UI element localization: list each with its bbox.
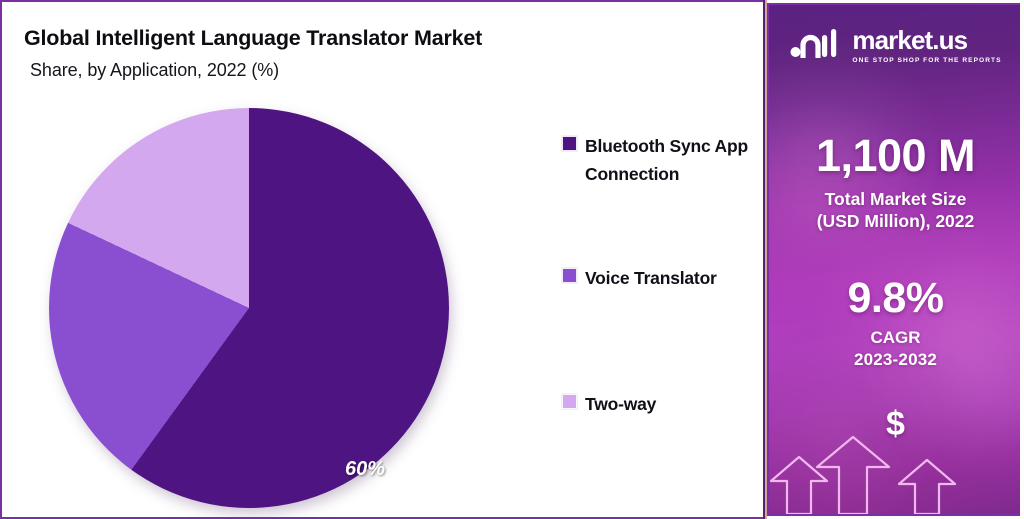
legend-label-2: Two-way (585, 390, 656, 418)
market-us-logo-icon (789, 28, 845, 63)
stat-value-market-size: 1,100 M (769, 133, 1020, 178)
legend-item-bluetooth-sync-app-connection[interactable]: Bluetooth Sync App Connection (562, 132, 760, 189)
brand-logo[interactable]: market.us ONE STOP SHOP FOR THE REPORTS (769, 27, 1020, 64)
infographic-root: Global Intelligent Language Translator M… (0, 0, 1024, 519)
legend-label-1: Voice Translator (585, 264, 717, 292)
brand-panel: market.us ONE STOP SHOP FOR THE REPORTS … (763, 0, 1024, 519)
logo-wordmark: market.us (852, 27, 1001, 53)
stat-cagr: 9.8% CAGR 2023-2032 (769, 277, 1020, 370)
stat-caption-line2: (USD Million), 2022 (769, 210, 1020, 232)
chart-panel: Global Intelligent Language Translator M… (0, 0, 763, 519)
stat-market-size: 1,100 M Total Market Size (USD Million),… (769, 133, 1020, 232)
page-title: Global Intelligent Language Translator M… (24, 26, 482, 51)
stat-caption-cagr: CAGR (769, 328, 1020, 348)
pie-slices (49, 108, 449, 508)
stat-caption-line1: Total Market Size (769, 188, 1020, 210)
pie-chart: 60% (49, 108, 455, 514)
stat-caption-market-size: Total Market Size (USD Million), 2022 (769, 188, 1020, 232)
legend-swatch-icon-0 (562, 136, 577, 151)
arrow-center (817, 437, 889, 514)
legend-item-voice-translator[interactable]: Voice Translator (562, 264, 717, 292)
pie-slice-label-0: 60% (345, 458, 385, 481)
stat-value-cagr: 9.8% (769, 277, 1020, 320)
growth-arrows-icon (769, 424, 1020, 514)
logo-text: market.us ONE STOP SHOP FOR THE REPORTS (852, 27, 1001, 64)
legend-label-0: Bluetooth Sync App Connection (585, 132, 760, 189)
stat-caption-cagr-years: 2023-2032 (769, 350, 1020, 370)
arrow-right (899, 460, 955, 514)
chart-subtitle: Share, by Application, 2022 (%) (30, 60, 279, 81)
legend-swatch-icon-1 (562, 268, 577, 283)
legend-swatch-icon-2 (562, 394, 577, 409)
legend-item-two-way[interactable]: Two-way (562, 390, 656, 418)
brand-panel-background: market.us ONE STOP SHOP FOR THE REPORTS … (767, 3, 1020, 516)
logo-tagline: ONE STOP SHOP FOR THE REPORTS (852, 57, 1001, 64)
